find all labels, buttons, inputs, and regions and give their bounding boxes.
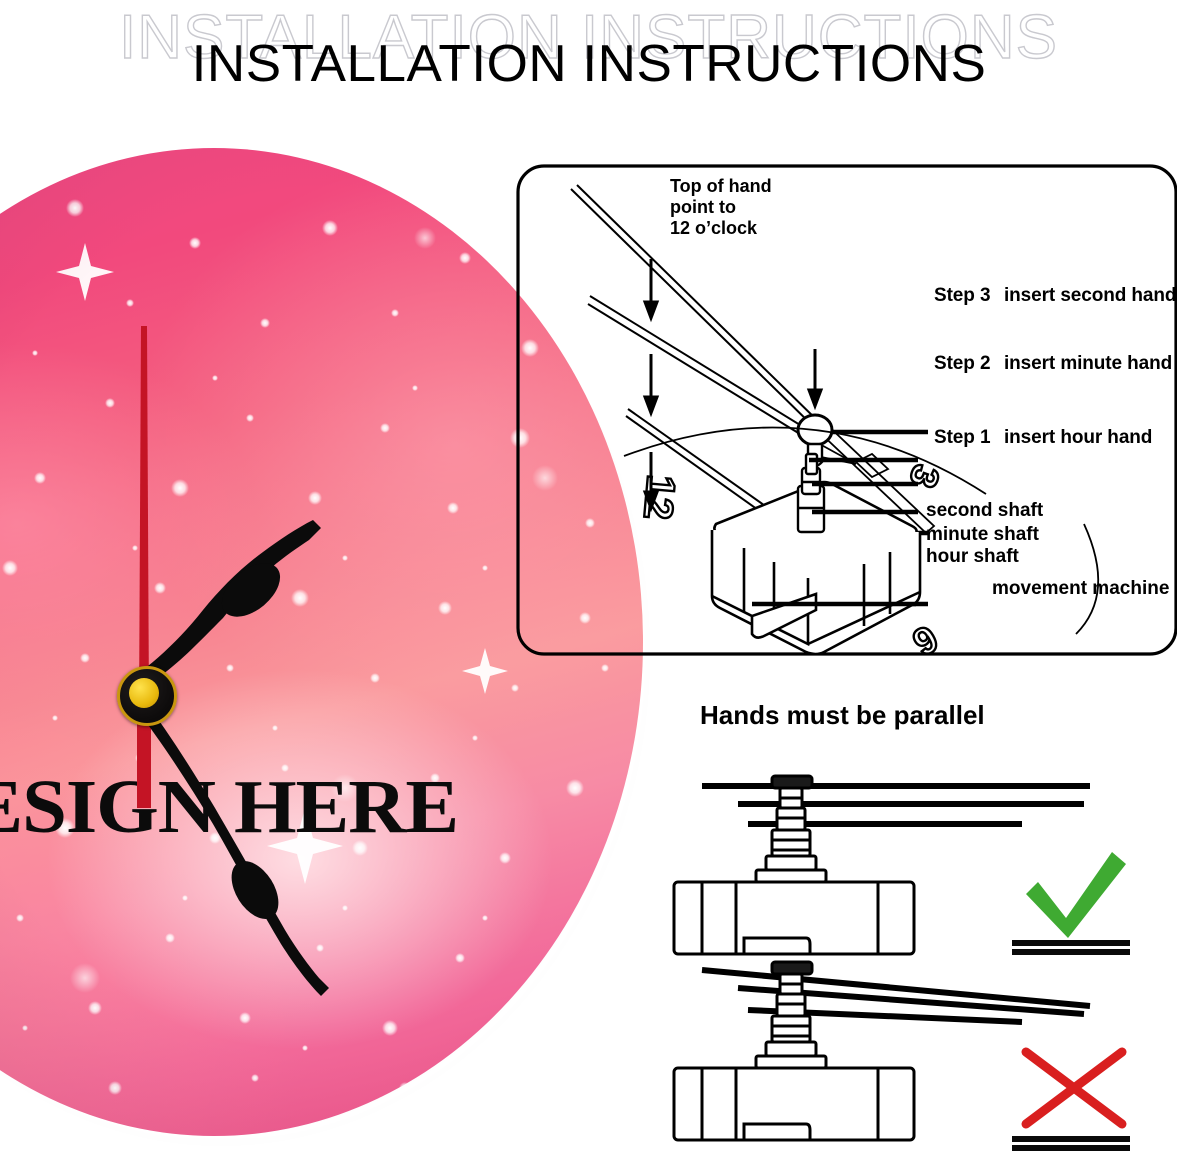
cross-mark-icon xyxy=(1026,1052,1122,1124)
note-line-1: Top of hand xyxy=(670,176,772,197)
second-shaft-label: second shaft xyxy=(926,500,1043,522)
step-2-number: Step 2 xyxy=(934,353,990,375)
movement-machine-label: movement machine xyxy=(992,578,1169,600)
title-zone: INSTALLATION INSTRUCTIONS INSTALLATION I… xyxy=(0,0,1177,120)
clock-hub-center xyxy=(129,678,159,708)
parallel-heading: Hands must be parallel xyxy=(700,700,985,731)
dial-number-3: 3 xyxy=(900,459,947,493)
page-title: INSTALLATION INSTRUCTIONS xyxy=(191,34,986,94)
step-3-action: insert second hand xyxy=(1004,285,1176,307)
dial-number-12: 12 xyxy=(635,473,683,521)
step-1-action: insert hour hand xyxy=(1004,427,1152,449)
shaft-stack xyxy=(798,454,824,532)
check-mark-icon xyxy=(1012,852,1130,955)
note-line-2: point to xyxy=(670,197,736,218)
step-1-number: Step 1 xyxy=(934,427,990,449)
installation-instructions-page: INSTALLATION INSTRUCTIONS INSTALLATION I… xyxy=(0,0,1177,1156)
hour-hand xyxy=(135,520,321,688)
note-line-3: 12 o’clock xyxy=(670,218,757,239)
incorrect-example xyxy=(674,962,1130,1151)
dial-number-6: 6 xyxy=(905,616,944,656)
step-2-action: insert minute hand xyxy=(1004,353,1172,375)
second-hand xyxy=(137,326,151,808)
hour-shaft-label: hour shaft xyxy=(926,546,1019,568)
minute-shaft-label: minute shaft xyxy=(926,524,1039,546)
parallel-examples xyxy=(660,740,1177,1152)
correct-example xyxy=(674,776,1130,955)
minute-hand xyxy=(137,696,329,996)
step-3-number: Step 3 xyxy=(934,285,990,307)
